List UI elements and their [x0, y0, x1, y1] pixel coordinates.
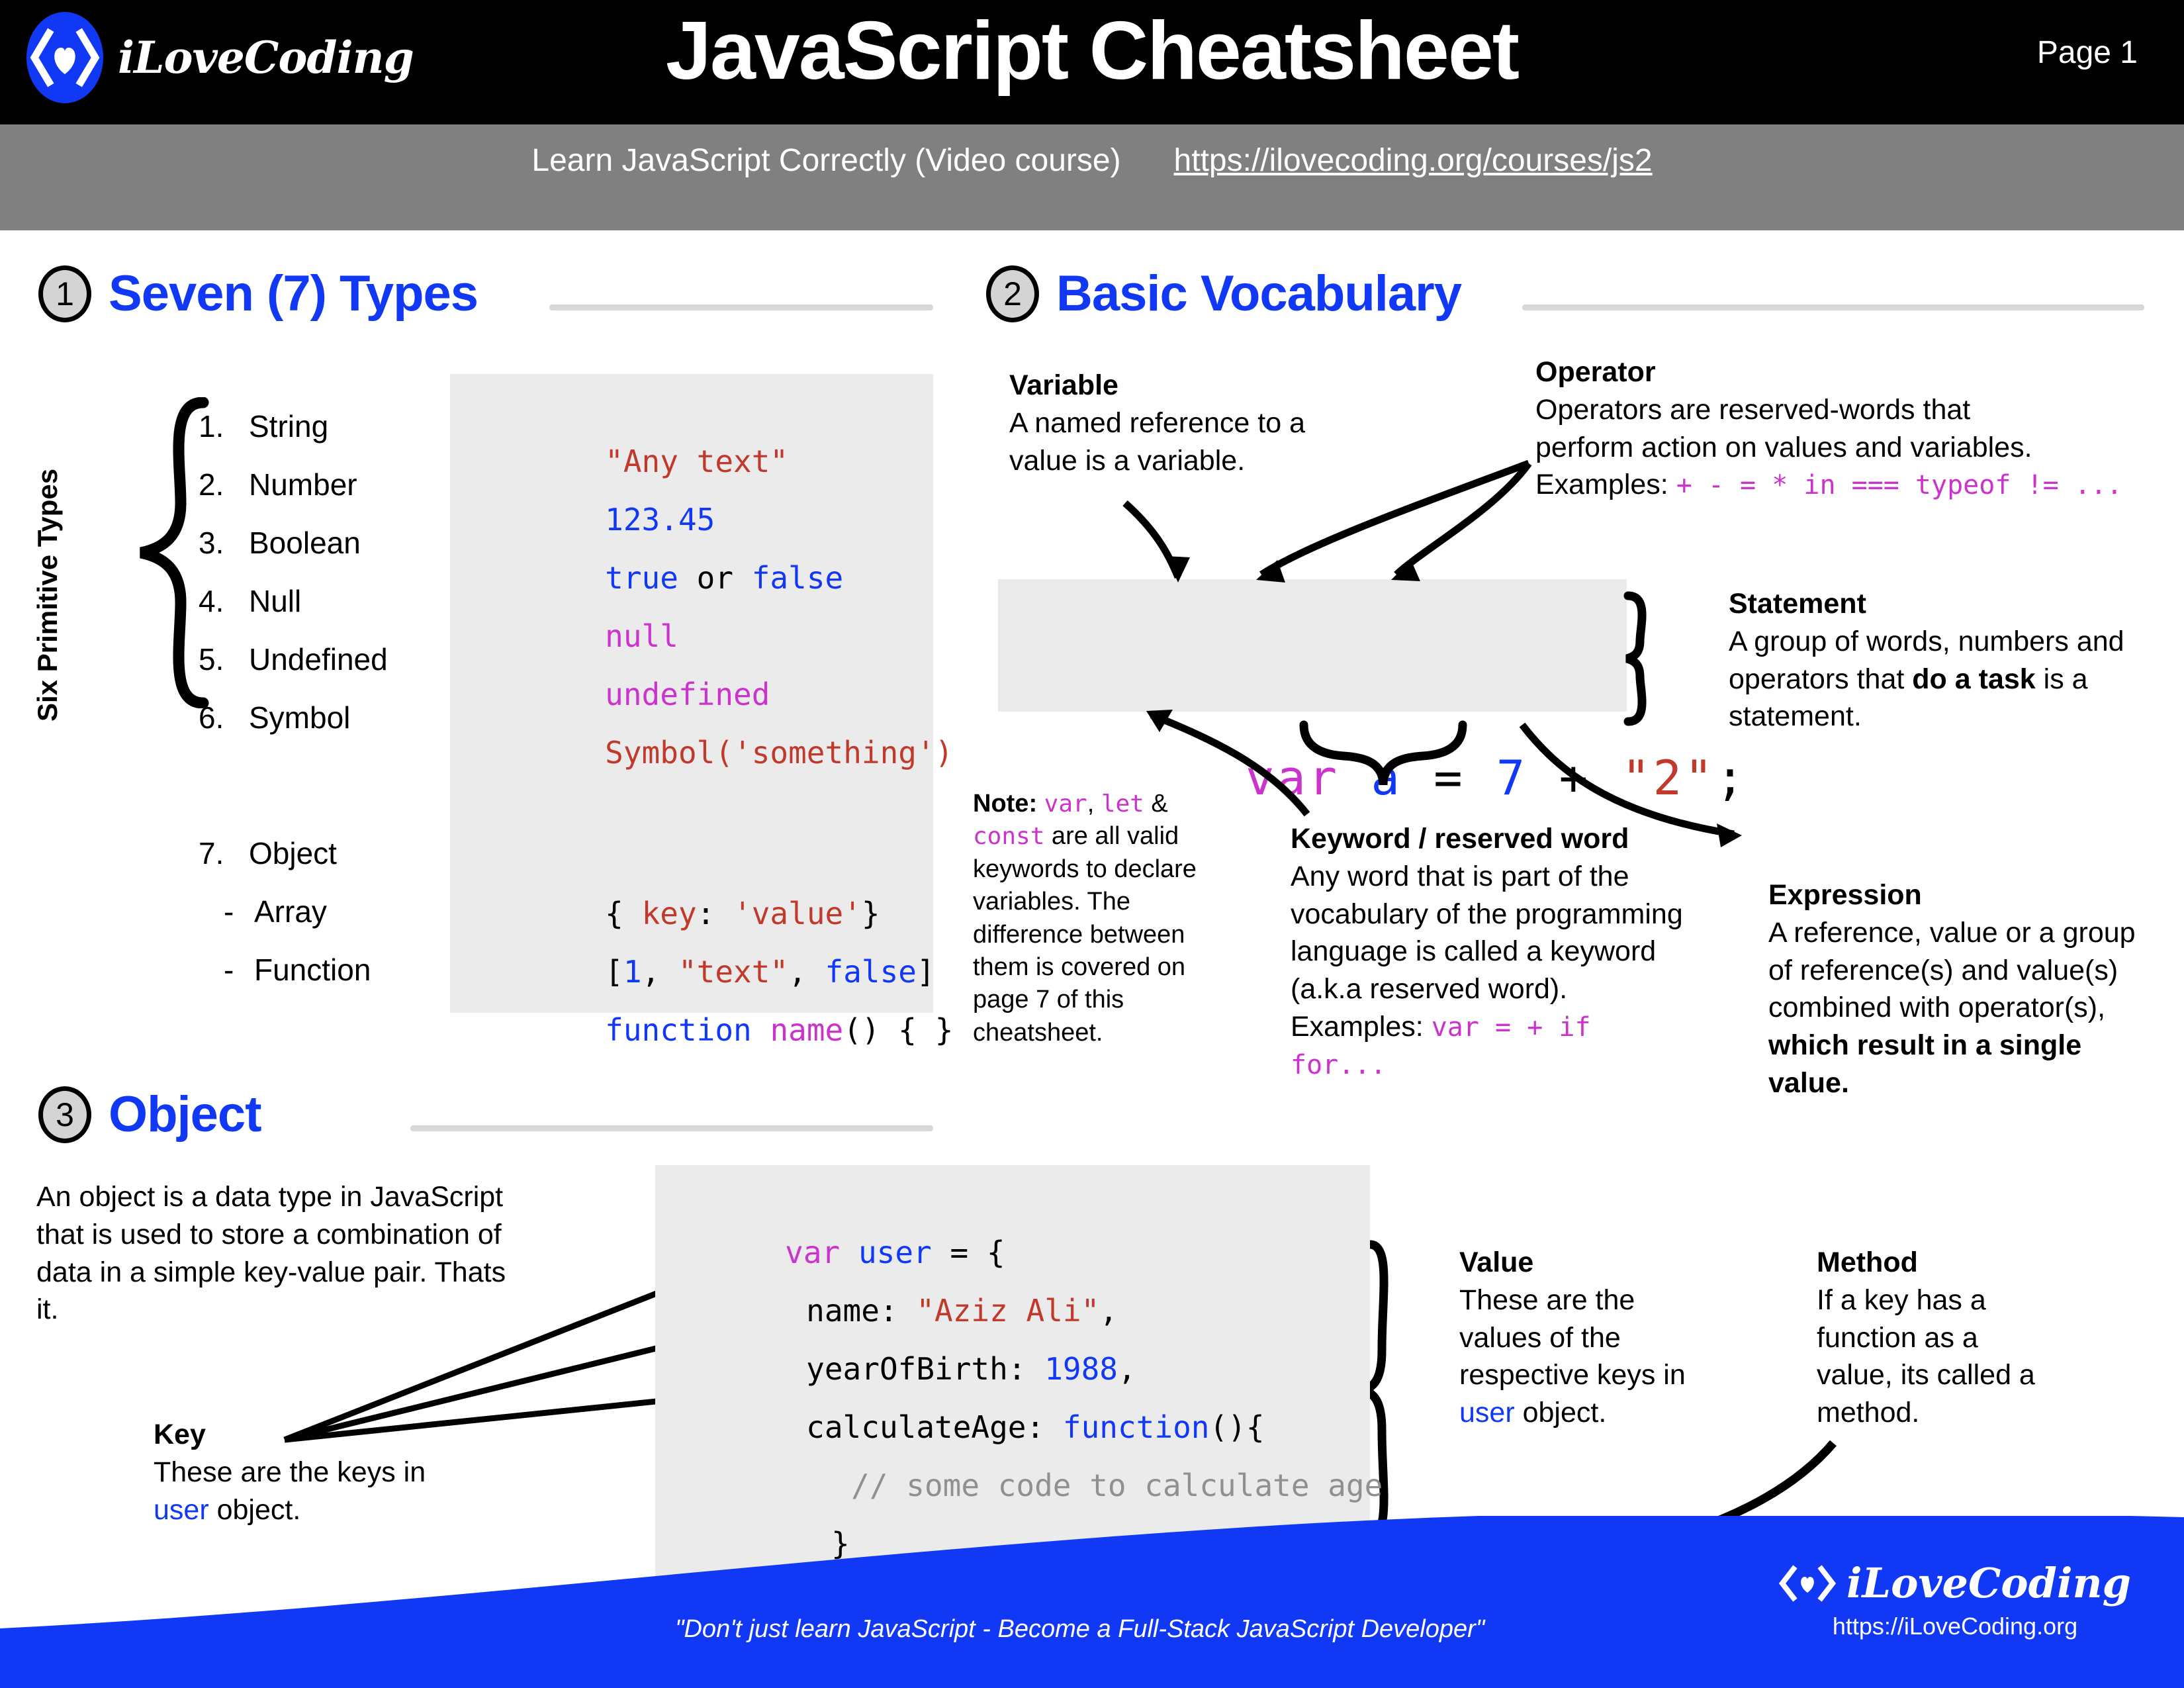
course-url-link[interactable]: https://ilovecoding.org/courses/js2: [1174, 142, 1653, 179]
term-variable-title: Variable: [1009, 367, 1353, 404]
type-name: Number: [249, 467, 357, 502]
note-tail: are all valid keywords to declare variab…: [973, 822, 1197, 1046]
code-token-comma: ,: [1118, 1351, 1136, 1387]
term-statement-body: A group of words, numbers and operators …: [1729, 623, 2152, 735]
term-expression-body: A reference, value or a group of referen…: [1768, 914, 2152, 1102]
type-index: 1.: [199, 408, 249, 444]
code-token-function-kw: function: [605, 1012, 752, 1048]
term-expression: Expression A reference, value or a group…: [1768, 877, 2152, 1102]
code-token-comma: ,: [1099, 1293, 1118, 1329]
code-token-false: false: [752, 560, 843, 596]
code-token-open-brace: = {: [932, 1235, 1005, 1270]
list-item: 3. Boolean: [199, 514, 388, 572]
code-token-string: "Any text": [605, 444, 788, 479]
note-block: Note: var, let & const are all valid key…: [973, 788, 1221, 1049]
type-index: 2.: [199, 467, 249, 502]
code-token-assign: =: [1402, 750, 1496, 806]
code-token-var: var: [1246, 750, 1340, 806]
code-token-or: or: [678, 560, 752, 596]
term-value: Value These are the values of the respec…: [1459, 1244, 1711, 1432]
type-name: Function: [254, 952, 371, 988]
term-operator-line2: perform action on values and variables.: [1535, 429, 2144, 467]
type-name: String: [249, 408, 328, 444]
list-item: 6. Symbol: [199, 688, 388, 747]
note-text: Note: var, let & const are all valid key…: [973, 788, 1221, 1049]
term-method-title: Method: [1817, 1244, 2048, 1282]
type-name: Undefined: [249, 641, 388, 677]
code-token-comment: // some code to calculate age: [851, 1468, 1383, 1503]
section-2-rule: [1522, 305, 2144, 310]
footer-url[interactable]: https://iLoveCoding.org: [1833, 1613, 2077, 1640]
code-token-var: var: [785, 1235, 840, 1270]
code-token-user: user: [858, 1235, 932, 1270]
code-token-null: null: [605, 618, 678, 654]
code-heart-icon: [1779, 1562, 1836, 1605]
expression-body-part-a: A reference, value or a group of referen…: [1768, 917, 2136, 1024]
examples-label: Examples:: [1535, 469, 1676, 500]
list-item: - Function: [199, 941, 371, 999]
page-number: Page 1: [2037, 34, 2138, 71]
type-name: Object: [249, 835, 337, 871]
list-item: 7. Object: [199, 824, 371, 882]
examples-label: Examples:: [1291, 1011, 1432, 1043]
code-token-number: 123.45: [605, 502, 715, 538]
type-name: Boolean: [249, 525, 361, 561]
note-kw-const: const: [973, 823, 1044, 850]
type-index: 5.: [199, 641, 249, 677]
code-token-semicolon: ;: [1715, 750, 1747, 806]
type-index: 4.: [199, 583, 249, 619]
term-expression-title: Expression: [1768, 877, 2152, 914]
key-body-part-a: These are the keys in: [154, 1456, 426, 1488]
term-statement-title: Statement: [1729, 586, 2152, 623]
statement-body-emphasis: do a task: [1912, 663, 2035, 695]
section-1-heading: 1 Seven (7) Types: [38, 265, 478, 322]
type-index: 3.: [199, 525, 249, 561]
note-label: Note:: [973, 790, 1044, 818]
code-token-key-year: yearOfBirth:: [806, 1351, 1044, 1387]
note-kw-var: var: [1044, 790, 1087, 818]
term-value-body: These are the values of the respective k…: [1459, 1282, 1711, 1432]
code-token-array-number: 1: [623, 954, 642, 990]
code-line-var-user: var user = {: [655, 1165, 1370, 1223]
type-name: Array: [254, 894, 327, 929]
term-variable-body: A named reference to a value is a variab…: [1009, 404, 1353, 480]
type-name: Null: [249, 583, 301, 619]
section-1-rule: [549, 305, 933, 310]
list-item: 2. Number: [199, 455, 388, 514]
section-2-number: 2: [986, 265, 1039, 322]
section-3-title: Object: [109, 1086, 261, 1143]
code-token-function-tail: () { }: [843, 1012, 953, 1048]
term-keyword-examples: Examples: var = + if for...: [1291, 1008, 1701, 1084]
code-token-colon: :: [697, 896, 733, 931]
code-line-string: "Any text": [450, 374, 933, 432]
code-token-two-string: "2": [1621, 750, 1715, 806]
code-token-undefined: undefined: [605, 677, 770, 712]
object-description: An object is a data type in JavaScript t…: [36, 1178, 526, 1329]
term-keyword-body: Any word that is part of the vocabulary …: [1291, 858, 1701, 1008]
section-3-rule: [410, 1125, 933, 1131]
statement-code-panel: var a = 7 + "2";: [998, 579, 1627, 712]
note-comma: ,: [1087, 790, 1101, 818]
header-subtitle-row: Learn JavaScript Correctly (Video course…: [0, 142, 2184, 179]
term-keyword-title: Keyword / reserved word: [1291, 821, 1701, 858]
code-token-space: [752, 1012, 770, 1048]
type-name: Symbol: [249, 700, 350, 735]
footer-brand: iLoveCoding https://iLoveCoding.org: [1779, 1559, 2131, 1640]
term-operator-line1: Operators are reserved-words that: [1535, 391, 2144, 429]
section-1-title: Seven (7) Types: [109, 265, 478, 322]
type-index: -: [224, 952, 254, 988]
code-token-fn-tail: (){: [1209, 1409, 1264, 1445]
code-token-value: 'value': [733, 896, 862, 931]
code-token-function-name: name: [770, 1012, 843, 1048]
code-token-symbol: Symbol('something'): [605, 735, 953, 771]
term-key: Key These are the keys in user object.: [154, 1417, 432, 1528]
term-method: Method If a key has a function as a valu…: [1817, 1244, 2048, 1432]
footer-quote: "Don't just learn JavaScript - Become a …: [675, 1615, 1484, 1644]
term-value-title: Value: [1459, 1244, 1711, 1282]
note-kw-let: let: [1101, 790, 1144, 818]
type-index: 6.: [199, 700, 249, 735]
primitive-types-list: 1. String 2. Number 3. Boolean 4. Null 5…: [199, 397, 388, 747]
list-item: 4. Null: [199, 572, 388, 630]
code-token-bracket-close: ]: [917, 954, 935, 990]
examples-code: + - = * in === typeof != ...: [1676, 470, 2122, 500]
code-token-function-kw: function: [1063, 1409, 1210, 1445]
type-index: -: [224, 894, 254, 929]
value-body-part-b: object.: [1515, 1397, 1607, 1429]
term-key-title: Key: [154, 1417, 432, 1454]
code-token-brace-open: {: [605, 896, 641, 931]
code-token-identifier-a: a: [1371, 750, 1402, 806]
list-item: - Array: [199, 882, 371, 941]
term-operator-examples: Examples: + - = * in === typeof != ...: [1535, 466, 2144, 504]
code-token-sep: ,: [788, 954, 825, 990]
code-token-plus: +: [1527, 750, 1621, 806]
code-token-key-name: name:: [806, 1293, 916, 1329]
page-title: JavaScript Cheatsheet: [0, 4, 2184, 98]
list-item: 5. Undefined: [199, 630, 388, 688]
value-body-code: user: [1459, 1397, 1515, 1429]
code-token-seven: 7: [1496, 750, 1527, 806]
section-1-number: 1: [38, 265, 91, 322]
value-body-part-a: These are the values of the respective k…: [1459, 1284, 1686, 1391]
section-3-heading: 3 Object: [38, 1086, 261, 1143]
list-item: 1. String: [199, 397, 388, 455]
object-types-list: 7. Object - Array - Function: [199, 824, 371, 999]
code-token-brace-close: }: [862, 896, 880, 931]
type-index: 7.: [199, 835, 249, 871]
term-operator: Operator Operators are reserved-words th…: [1535, 354, 2144, 504]
code-token-value-name: "Aziz Ali": [916, 1293, 1099, 1329]
code-token-array-string: "text": [678, 954, 788, 990]
term-statement: Statement A group of words, numbers and …: [1729, 586, 2152, 735]
code-token-space: [840, 1235, 858, 1270]
cheatsheet-page: iLoveCoding JavaScript Cheatsheet Page 1…: [0, 0, 2184, 1688]
code-token-true: true: [605, 560, 678, 596]
term-method-body: If a key has a function as a value, its …: [1817, 1282, 2048, 1432]
section-2-title: Basic Vocabulary: [1056, 265, 1461, 322]
code-token-array-bool: false: [825, 954, 917, 990]
expression-body-emphasis: which result in a single value.: [1768, 1029, 2081, 1099]
code-token-key-calcage: calculateAge:: [806, 1409, 1063, 1445]
code-token-sep: ,: [642, 954, 678, 990]
six-primitive-types-label: Six Primitive Types: [32, 469, 64, 722]
course-subtitle: Learn JavaScript Correctly (Video course…: [531, 142, 1120, 179]
section-2-heading: 2 Basic Vocabulary: [986, 265, 1461, 322]
term-keyword: Keyword / reserved word Any word that is…: [1291, 821, 1701, 1083]
footer-brand-name: iLoveCoding: [1846, 1559, 2131, 1607]
note-amp: &: [1144, 790, 1168, 818]
code-token-bracket-open: [: [605, 954, 623, 990]
term-operator-title: Operator: [1535, 354, 2144, 391]
code-token-key: key: [642, 896, 697, 931]
types-code-panel: "Any text" 123.45 true or false null und…: [450, 374, 933, 1013]
code-token-space: [1340, 750, 1371, 806]
section-3-number: 3: [38, 1086, 91, 1143]
code-token-value-year: 1988: [1044, 1351, 1118, 1387]
term-variable: Variable A named reference to a value is…: [1009, 367, 1353, 479]
